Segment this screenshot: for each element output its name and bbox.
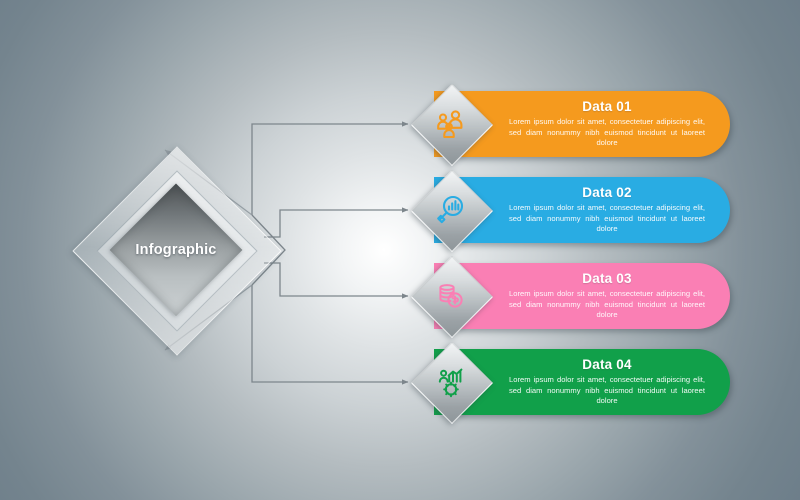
row-body: Lorem ipsum dolor sit amet, consectetuer… [509,203,705,235]
infographic-canvas: Infographic Data 01 [0,0,800,500]
row-badge[interactable] [412,343,490,421]
row-title: Data 01 [582,99,631,114]
row-badge[interactable] [412,257,490,335]
row-title: Data 03 [582,271,631,286]
coins-stack-icon [412,257,490,335]
row-text: Data 04 Lorem ipsum dolor sit amet, cons… [500,349,714,415]
data-row[interactable]: Data 02 Lorem ipsum dolor sit amet, cons… [404,171,740,249]
center-diamond-label: Infographic [74,148,278,352]
row-text: Data 01 Lorem ipsum dolor sit amet, cons… [500,91,714,157]
row-body: Lorem ipsum dolor sit amet, consectetuer… [509,117,705,149]
row-title: Data 04 [582,357,631,372]
center-diamond[interactable]: Infographic [74,148,278,352]
row-title: Data 02 [582,185,631,200]
data-row[interactable]: Data 01 Lorem ipsum dolor sit amet, cons… [404,85,740,163]
row-text: Data 03 Lorem ipsum dolor sit amet, cons… [500,263,714,329]
data-row[interactable]: Data 04 Lorem ipsum dolor sit amet, cons… [404,343,740,421]
row-badge[interactable] [412,85,490,163]
row-badge[interactable] [412,171,490,249]
data-row[interactable]: Data 03 Lorem ipsum dolor sit amet, cons… [404,257,740,335]
row-text: Data 02 Lorem ipsum dolor sit amet, cons… [500,177,714,243]
magnifier-bar-chart-icon [412,171,490,249]
people-group-icon [412,85,490,163]
row-body: Lorem ipsum dolor sit amet, consectetuer… [509,375,705,407]
person-growth-gear-icon [412,343,490,421]
row-body: Lorem ipsum dolor sit amet, consectetuer… [509,289,705,321]
